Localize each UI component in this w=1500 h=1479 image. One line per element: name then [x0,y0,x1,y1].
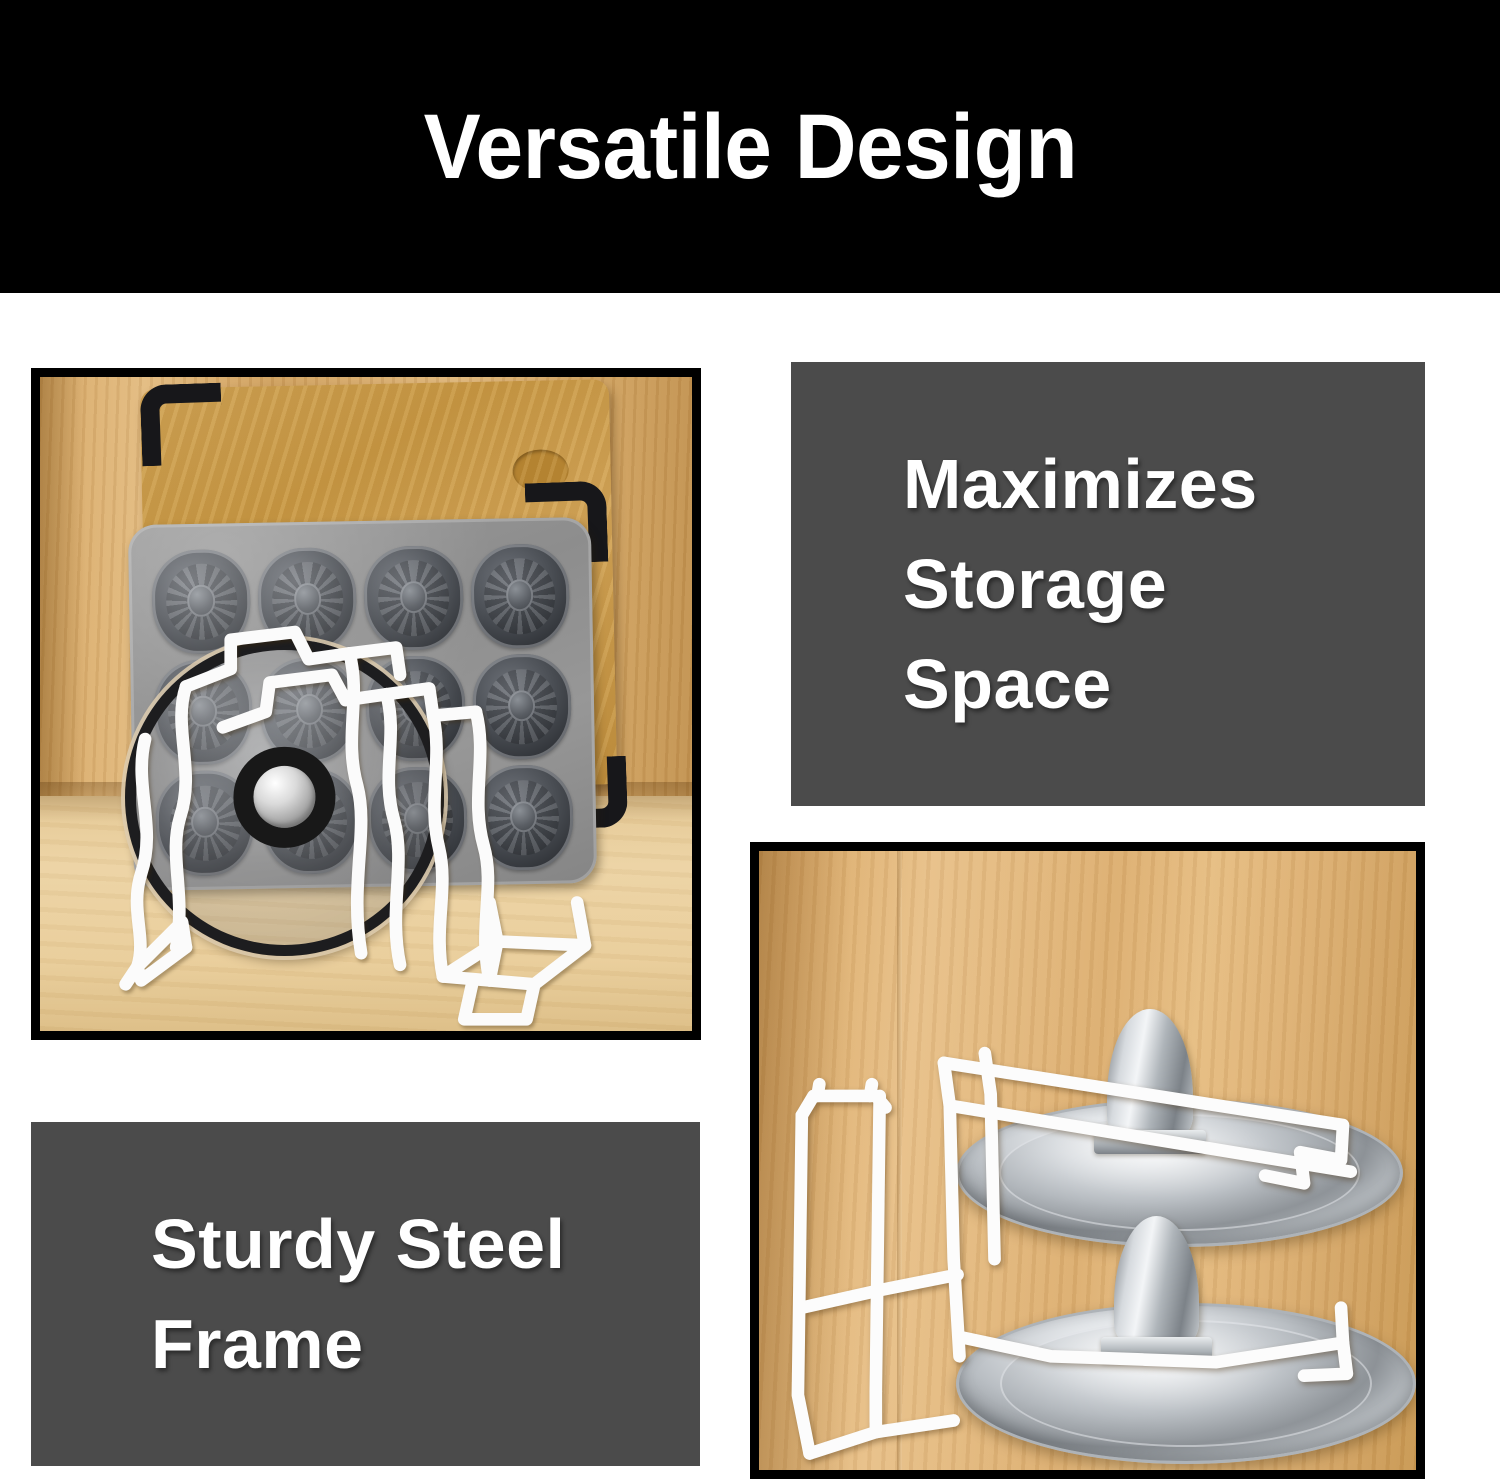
photo-panel-lid-rack [750,842,1425,1479]
lid-rack-scene [759,851,1416,1470]
cabinet-scene [40,377,692,1031]
caption-line: Space [903,634,1425,734]
caption-line: Maximizes [903,434,1425,534]
caption-line: Sturdy Steel [151,1194,700,1294]
white-wire-lid-rack [40,377,692,1031]
caption-box-sturdy-steel-frame: Sturdy Steel Frame [31,1122,700,1466]
caption-line: Storage [903,534,1425,634]
caption-box-maximizes-storage: Maximizes Storage Space [791,362,1425,806]
caption-line: Frame [151,1294,700,1394]
white-wire-lid-rack [759,851,1416,1470]
header-banner: Versatile Design [0,0,1500,293]
photo-panel-cabinet-rack [31,368,701,1040]
page-title: Versatile Design [423,101,1077,193]
